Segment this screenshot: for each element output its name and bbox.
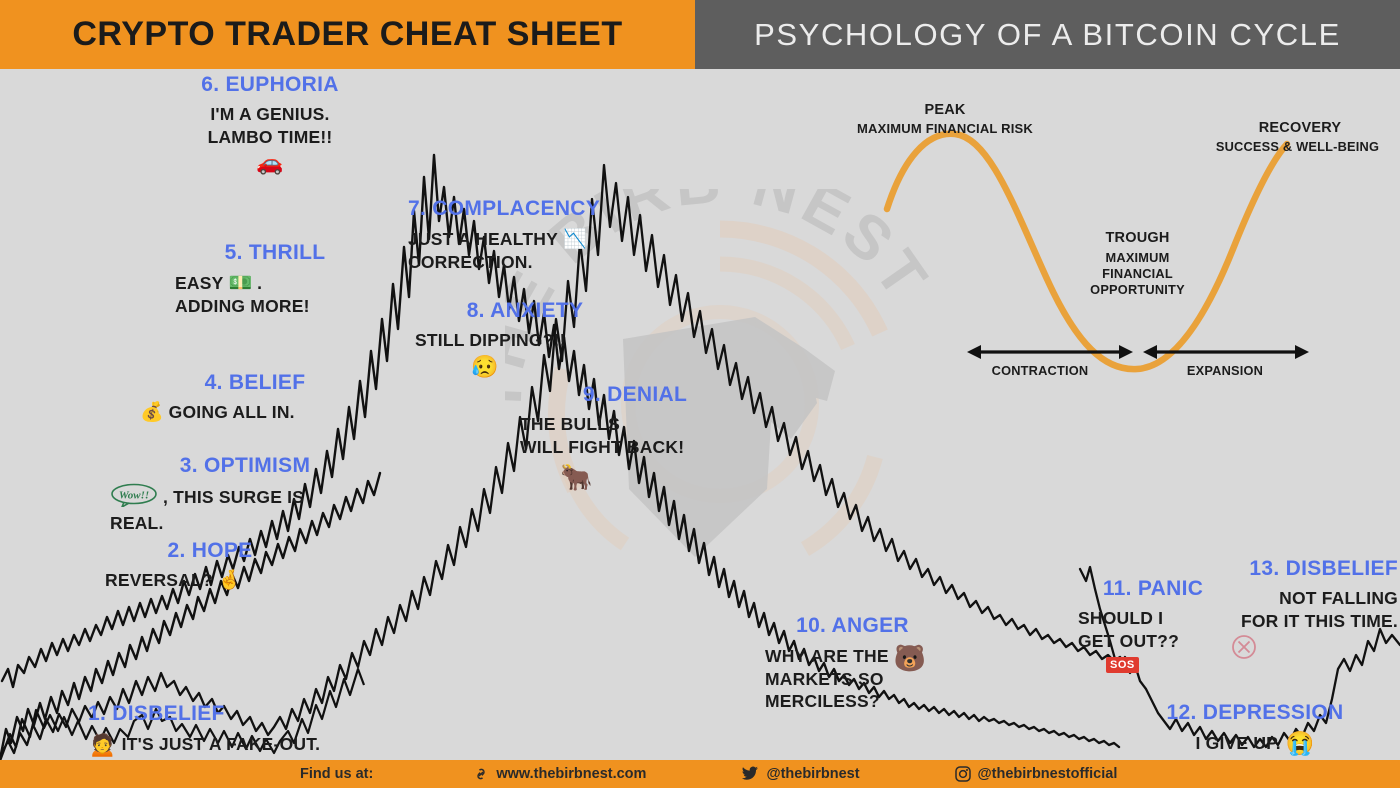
stage-annotation-anxiety: 8. ANXIETY STILL DIPPING?!! 😥 [415,299,635,380]
wow-speech-bubble-icon: Wow!! [110,483,158,512]
stage-annotation-thrill: 5. THRILL EASY 💵 . ADDING MORE! [175,241,375,318]
link-icon [473,766,489,782]
stage-line: STILL DIPPING?!! [415,329,635,351]
footer-twitter-label: @thebirbnest [766,766,859,782]
stage-title-anger: 10. ANGER [765,614,940,638]
stage-line: EASY [175,272,223,294]
stage-line: CORRECTION. [408,251,648,273]
stage-line: IT'S JUST A FAKE-OUT. [122,733,321,755]
stage-annotation-complacency: 7. COMPLACENCY JUST A HEALTHY 📉 CORRECTI… [408,197,648,274]
instagram-icon [955,766,971,782]
cycle-peak-sublabel: MAXIMUM FINANCIAL RISK [820,121,1070,138]
stage-line: MARKETS SO [765,668,889,690]
stage-title-disbelief-2: 13. DISBELIEF [1150,557,1398,581]
header-bar: CRYPTO TRADER CHEAT SHEET PSYCHOLOGY OF … [0,0,1400,69]
stage-annotation-anger: 10. ANGER WHY ARE THE MARKETS SO MERCILE… [765,614,985,712]
stage-title-optimism: 3. OPTIMISM [110,454,380,478]
stage-line: , THIS SURGE IS [163,486,304,508]
stage-annotation-depression: 12. DEPRESSION I GIVE UP. 😭 [1130,701,1380,757]
svg-text:Wow!!: Wow!! [119,490,149,502]
stage-title-thrill: 5. THRILL [175,241,375,265]
person-frowning-emoji: 🙍 [88,731,117,758]
cycle-trough-label: TROUGH MAXIMUM FINANCIAL OPPORTUNITY [1050,229,1225,299]
footer-instagram-link[interactable]: @thebirbnestofficial [955,766,1118,782]
page-title-right: PSYCHOLOGY OF A BITCOIN CYCLE [754,17,1341,53]
stage-annotation-hope: 2. HOPE REVERSAL? 🤞 [105,539,315,592]
twitter-icon [741,766,759,782]
stage-annotation-disbelief-2: 13. DISBELIEF NOT FALLING FOR IT THIS TI… [1150,557,1398,665]
loudly-crying-face-emoji: 😭 [1286,730,1315,757]
footer-instagram-label: @thebirbnestofficial [978,766,1118,782]
stage-line: REAL. [110,512,380,534]
stage-annotation-disbelief-1: 1. DISBELIEF 🙍 IT'S JUST A FAKE-OUT. [88,702,418,758]
stage-line: LAMBO TIME!! [140,126,400,148]
sports-car-emoji: 🚗 [140,150,400,176]
stage-title-anxiety: 8. ANXIETY [415,299,635,323]
footer-twitter-link[interactable]: @thebirbnest [741,766,859,782]
stage-line: GOING ALL IN. [169,401,295,423]
stage-line: I GIVE UP. [1196,732,1281,754]
stage-period: . [257,272,262,294]
bear-emoji: 🐻 [894,643,926,674]
crossed-fingers-emoji: 🤞 [218,568,242,592]
stage-line: WILL FIGHT BACK! [520,436,750,458]
stage-line: ADDING MORE! [175,295,375,317]
footer-find-us: Find us at: [300,766,373,782]
page-title-left: CRYPTO TRADER CHEAT SHEET [72,15,622,54]
money-bag-emoji: 💰 [140,400,164,424]
footer-website-label: www.thebirbnest.com [496,766,646,782]
chart-decreasing-emoji: 📉 [563,227,587,251]
header-right-panel: PSYCHOLOGY OF A BITCOIN CYCLE [695,0,1400,69]
stage-line: MERCILESS? [765,690,889,712]
stage-line: I'M A GENIUS. [140,103,400,125]
stage-title-belief: 4. BELIEF [140,371,370,395]
stage-title-denial: 9. DENIAL [520,383,750,407]
stage-title-euphoria: 6. EUPHORIA [140,73,400,97]
stage-annotation-optimism: 3. OPTIMISM Wow!! , THIS SURGE IS REAL. [110,454,380,535]
stage-annotation-belief: 4. BELIEF 💰 GOING ALL IN. [140,371,370,424]
stage-title-hope: 2. HOPE [105,539,315,563]
stage-annotation-denial: 9. DENIAL THE BULLS WILL FIGHT BACK! 🐂 [520,383,750,493]
cycle-expansion-label: EXPANSION [1140,363,1310,379]
footer-website-link[interactable]: www.thebirbnest.com [473,766,646,782]
cycle-contraction-label: CONTRACTION [950,363,1130,379]
stage-title-disbelief-1: 1. DISBELIEF [88,702,418,726]
stage-title-depression: 12. DEPRESSION [1130,701,1380,725]
stage-title-complacency: 7. COMPLACENCY [408,197,648,221]
contraction-arrow [967,345,1133,359]
stage-line: WHY ARE THE [765,645,889,667]
stage-line: REVERSAL? [105,569,213,591]
stage-line: THE BULLS [520,413,750,435]
stage-line: NOT FALLING [1150,587,1398,609]
bull-emoji: 🐂 [560,462,750,493]
stage-line: FOR IT THIS TIME. [1150,610,1398,632]
infographic-canvas: THE BIRB NEST PEAK MAXIMU [0,69,1400,760]
sad-sweat-face-emoji: 😥 [415,354,555,380]
circled-x-icon [1150,634,1338,665]
cycle-recovery-label: RECOVERY [1200,119,1400,138]
cycle-recovery-sublabel: SUCCESS & WELL-BEING [1190,139,1400,155]
stage-annotation-euphoria: 6. EUPHORIA I'M A GENIUS. LAMBO TIME!! 🚗 [140,73,400,176]
stage-line: JUST A HEALTHY [408,228,558,250]
footer-bar: Find us at: www.thebirbnest.com @thebirb… [0,760,1400,788]
header-left-panel: CRYPTO TRADER CHEAT SHEET [0,0,695,69]
cycle-peak-label: PEAK [845,101,1045,120]
dollar-banknote-emoji: 💵 [228,271,252,295]
